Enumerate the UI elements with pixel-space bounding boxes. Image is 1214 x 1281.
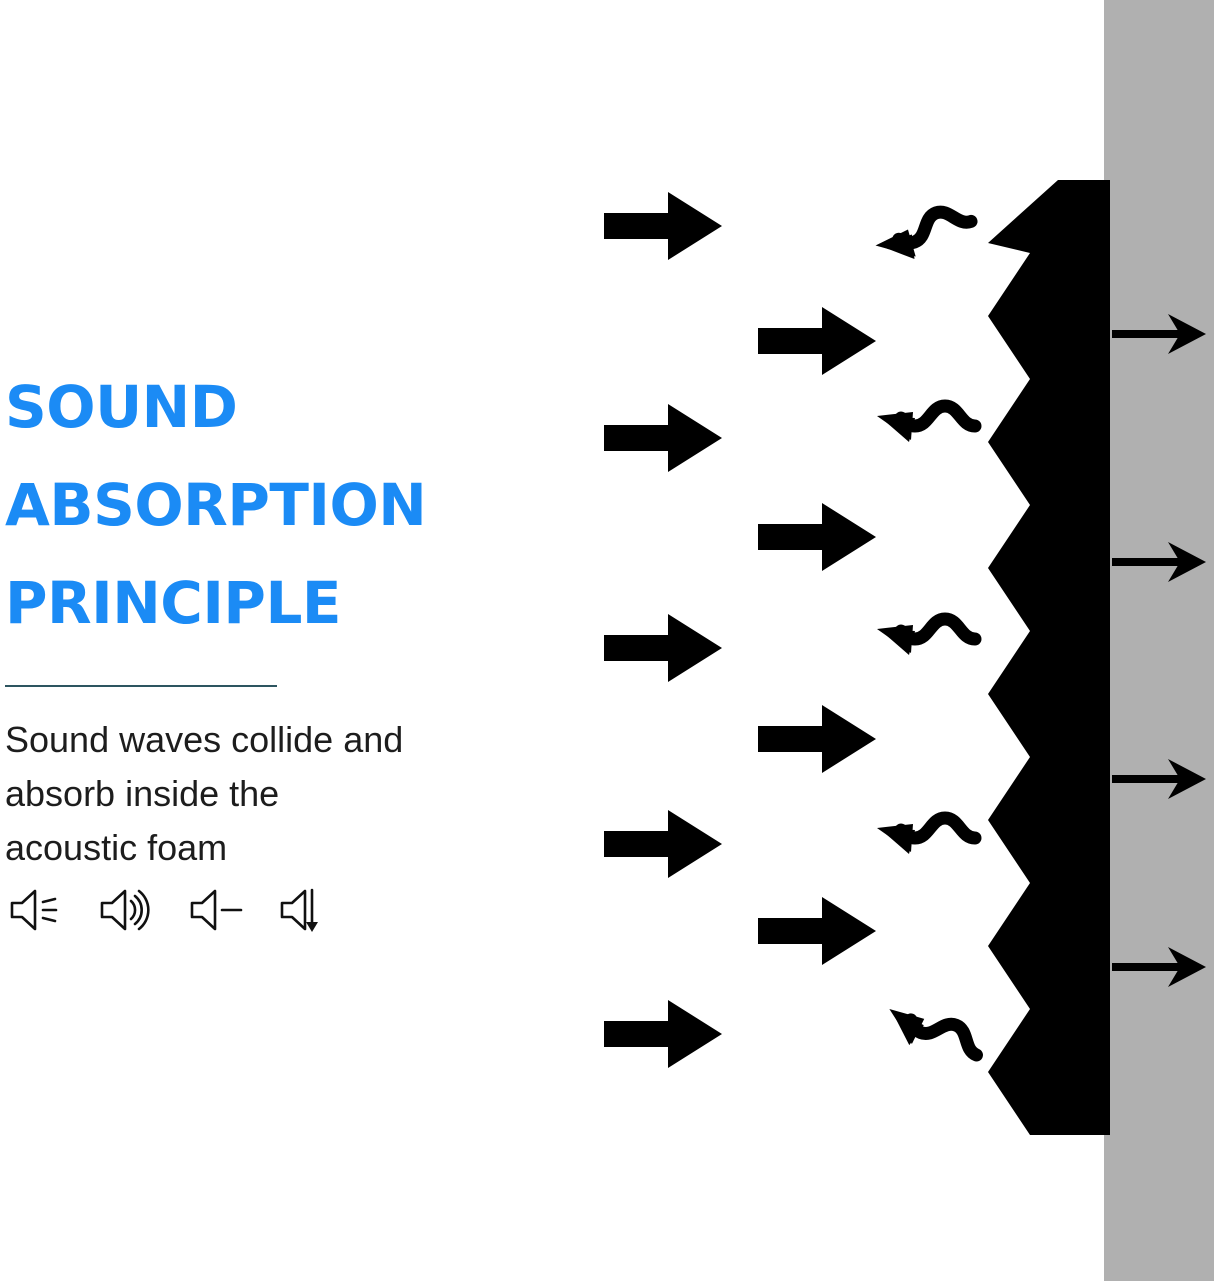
page-title: SOUND ABSORPTION PRINCIPLE: [5, 358, 525, 652]
speaker-down-arrow-icon: [279, 885, 335, 935]
incoming-sound-arrow: [604, 614, 722, 682]
speaker-lines-icon: [9, 885, 65, 935]
incoming-sound-arrow: [604, 810, 722, 878]
description-line-3: acoustic foam: [5, 821, 475, 875]
description-line-2: absorb inside the: [5, 767, 475, 821]
incoming-sound-arrow: [758, 705, 876, 773]
incoming-sound-arrow: [758, 307, 876, 375]
sound-icon-row: [9, 885, 335, 935]
description-line-1: Sound waves collide and: [5, 713, 475, 767]
acoustic-foam-wedge: [980, 170, 1110, 1135]
incoming-sound-arrow: [758, 503, 876, 571]
reflected-sound-arrow: [877, 406, 975, 442]
reflected-sound-arrow: [880, 1000, 984, 1070]
incoming-sound-arrow: [758, 897, 876, 965]
speaker-minus-icon: [189, 885, 245, 935]
page-title-line-3: PRINCIPLE: [5, 554, 525, 652]
reflected-sound-arrow: [877, 619, 975, 655]
text-column: SOUND ABSORPTION PRINCIPLE Sound waves c…: [5, 358, 525, 652]
page-title-line-1: SOUND: [5, 358, 525, 456]
page-title-line-2: ABSORPTION: [5, 456, 525, 554]
poster-root: SOUND ABSORPTION PRINCIPLE Sound waves c…: [0, 0, 1214, 1281]
description-text: Sound waves collide and absorb inside th…: [5, 713, 475, 875]
incoming-sound-arrow: [604, 1000, 722, 1068]
incoming-sound-arrow: [604, 192, 722, 260]
reflected-sound-arrow: [872, 203, 976, 270]
wall-panel: [1104, 0, 1214, 1281]
divider-rule: [5, 685, 277, 687]
reflected-sound-arrow: [877, 818, 975, 854]
speaker-waves-icon: [99, 885, 155, 935]
incoming-sound-arrow: [604, 404, 722, 472]
